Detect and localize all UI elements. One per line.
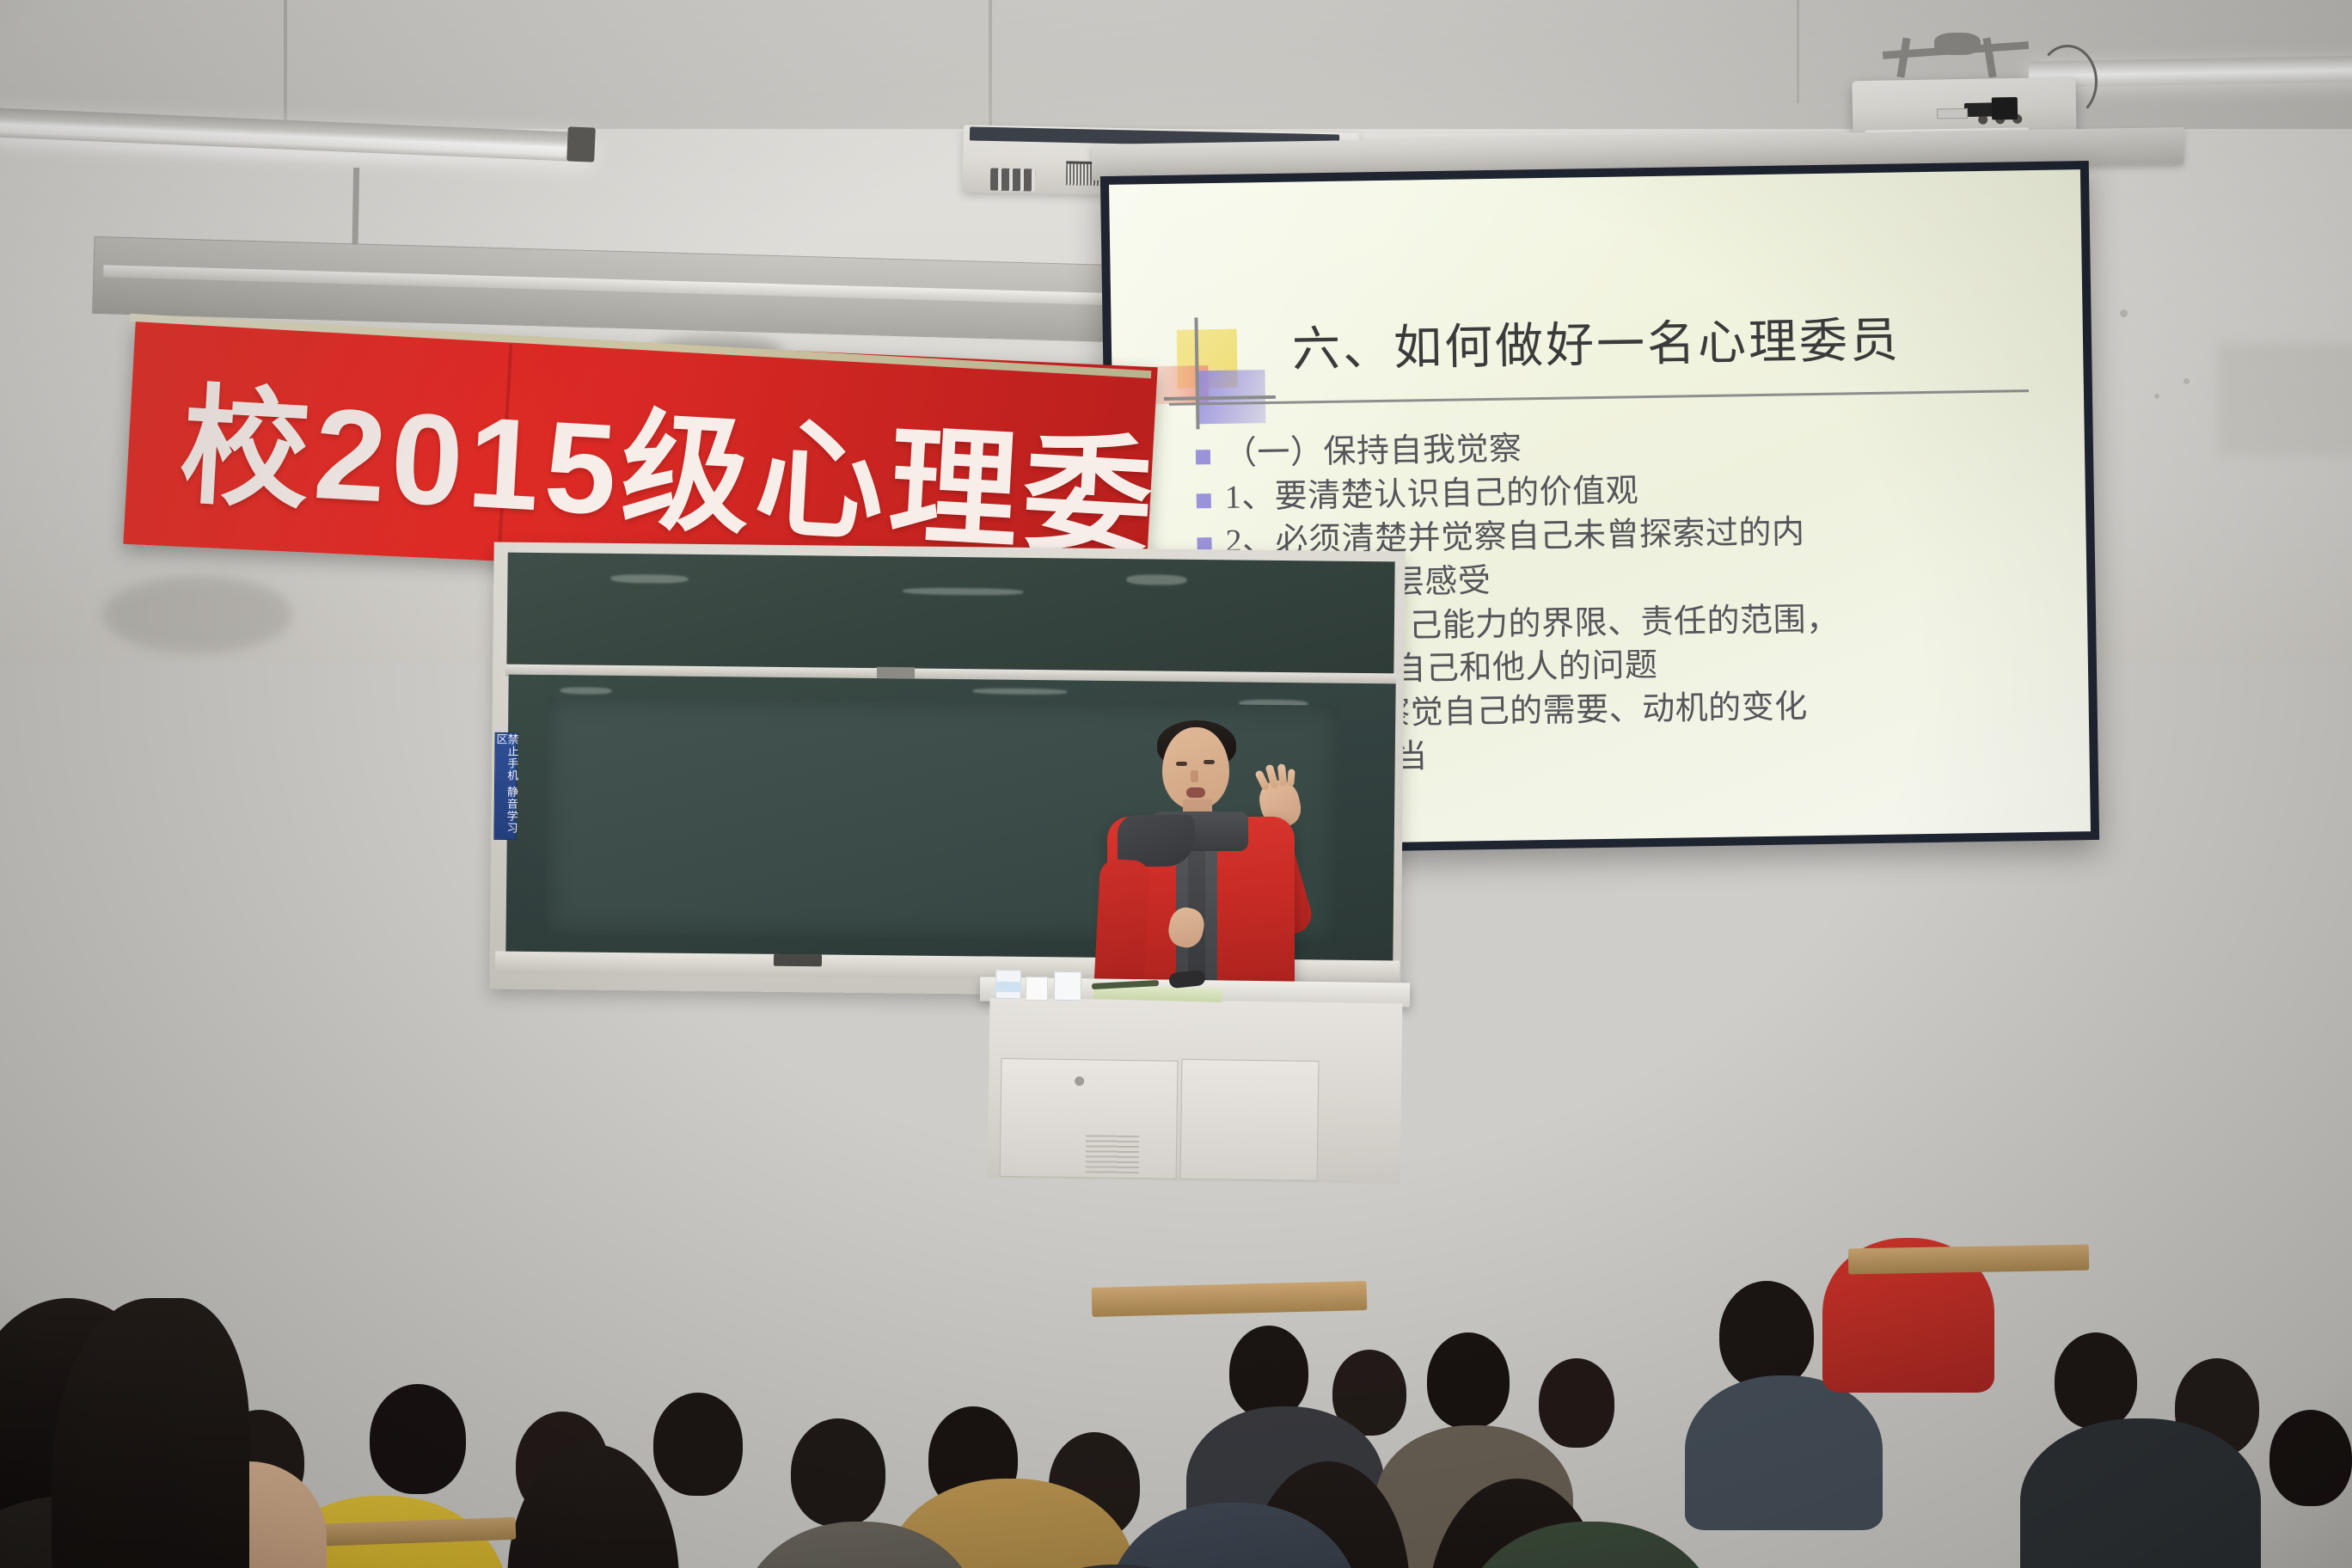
bullet-text: （一）保持自我觉察 bbox=[1224, 429, 1522, 475]
tube-light-end-cap bbox=[567, 126, 596, 162]
audience-head bbox=[2055, 1332, 2137, 1429]
audience-area bbox=[0, 928, 2352, 1568]
classroom-bench bbox=[1848, 1245, 2089, 1275]
blackboard-notice-sign: 禁止手机 静音学习区 bbox=[493, 732, 517, 840]
speaker-head bbox=[1162, 727, 1229, 810]
projector-mount-bracket bbox=[1883, 38, 2029, 77]
audience-head bbox=[370, 1384, 466, 1494]
blackboard-rail-clip bbox=[877, 667, 915, 678]
audience-head bbox=[791, 1418, 885, 1527]
audience-head bbox=[1539, 1358, 1614, 1448]
audience-head bbox=[1229, 1326, 1308, 1418]
bullet-marker-icon bbox=[1197, 493, 1211, 508]
audience-head bbox=[1719, 1281, 1814, 1389]
bullet-marker-icon bbox=[1196, 450, 1210, 464]
audience-head bbox=[1427, 1332, 1510, 1429]
air-conditioner-vent-left bbox=[990, 168, 1036, 191]
blackboard-upper-panel bbox=[506, 553, 1394, 681]
audience-head bbox=[2269, 1410, 2352, 1506]
classroom-bench bbox=[1092, 1281, 1368, 1317]
audience-shoulder bbox=[1685, 1375, 1883, 1530]
audience-shoulder bbox=[2020, 1418, 2261, 1568]
speaker-hood bbox=[1118, 815, 1195, 867]
audience-head bbox=[653, 1393, 743, 1496]
bullet-text: 1、要清楚认识自己的价值观 bbox=[1224, 471, 1638, 518]
slide-title: 六、如何做好一名心理委员 bbox=[1291, 299, 2031, 380]
notice-sign-text: 禁止手机 静音学习区 bbox=[493, 733, 517, 839]
classroom-lecture-photo: 六、如何做好一名心理委员 （一）保持自我觉察 1、要清楚认识自己的价值观 2、必… bbox=[0, 0, 2352, 1568]
